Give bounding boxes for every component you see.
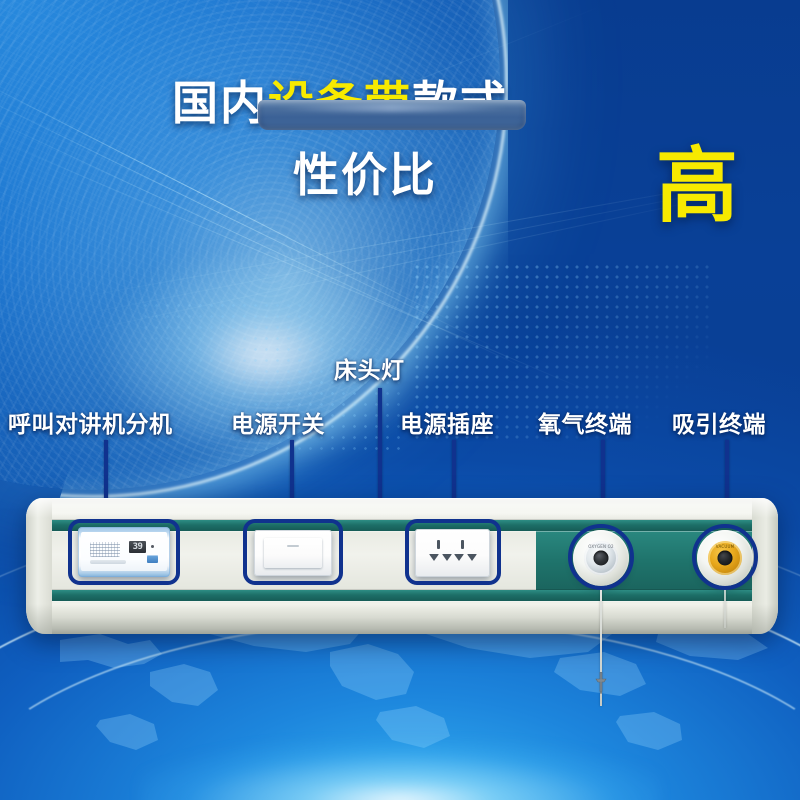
callout-label-suction: 吸引终端: [672, 414, 766, 437]
callout-label-bedlamp: 床头灯: [334, 360, 405, 383]
callout-label-oxygen: 氧气终端: [538, 414, 632, 437]
callout-label-switch: 电源开关: [231, 414, 325, 437]
product-banner: 国内设备带款式 性价比 高 呼叫对讲机分机 电源开关 床头灯 电源插座 氧气终端…: [0, 0, 800, 800]
suction-terminal-cord: [724, 586, 726, 628]
highlight-box-switch: [243, 519, 343, 585]
highlight-box-socket: [405, 519, 501, 585]
callout-label-socket: 电源插座: [400, 414, 494, 437]
cord-hook-icon: [594, 672, 608, 694]
panel-bottom-bevel: [26, 604, 778, 634]
highlight-circle-oxygen: [568, 524, 634, 590]
bed-lamp-diffuser[interactable]: [258, 100, 526, 130]
bed-lamp-gloss: [274, 104, 510, 112]
highlight-box-intercom: [68, 519, 180, 585]
panel-top-bevel: [26, 498, 778, 518]
callout-label-intercom: 呼叫对讲机分机: [8, 414, 173, 437]
panel-stripe-bottom: [26, 590, 778, 601]
highlight-circle-suction: [692, 524, 758, 590]
